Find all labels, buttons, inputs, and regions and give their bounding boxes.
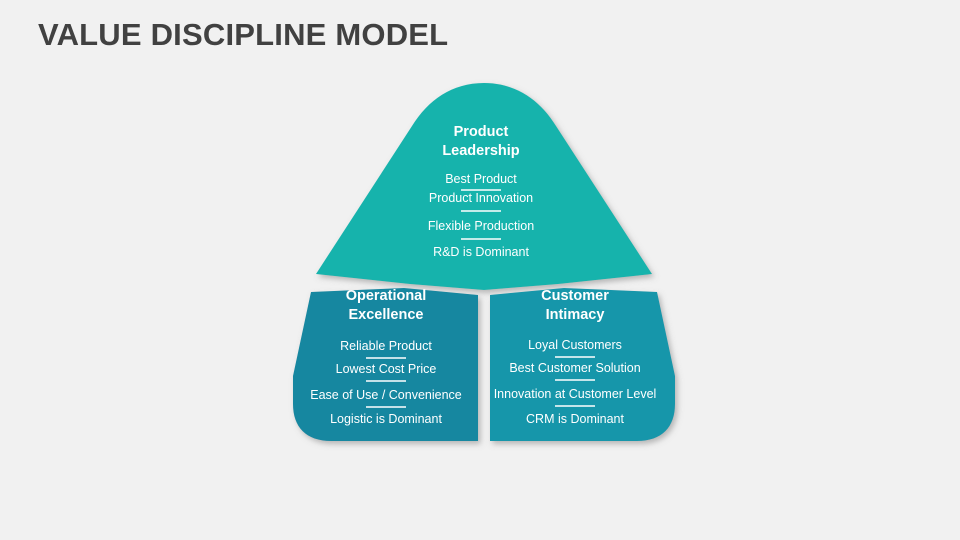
- slide-canvas: VALUE DISCIPLINE MODEL Product Leadershi…: [0, 0, 960, 540]
- segment-customer-intimacy[interactable]: Customer Intimacy Loyal Customers Best C…: [490, 288, 675, 441]
- segment-product-leadership-heading-line2: Leadership: [442, 143, 519, 159]
- segment-operational-excellence-item-3: Logistic is Dominant: [330, 412, 442, 426]
- segment-operational-excellence-heading-line2: Excellence: [349, 307, 424, 323]
- value-discipline-diagram: Product Leadership Best Product Product …: [0, 0, 960, 540]
- segment-product-leadership-item-2: Flexible Production: [428, 219, 534, 233]
- segment-operational-excellence-heading-line1: Operational: [346, 288, 427, 304]
- segment-operational-excellence[interactable]: Operational Excellence Reliable Product …: [293, 288, 478, 441]
- segment-customer-intimacy-heading-line2: Intimacy: [546, 307, 605, 323]
- segment-customer-intimacy-item-3: CRM is Dominant: [526, 412, 624, 426]
- segment-product-leadership-item-1: Product Innovation: [429, 191, 533, 205]
- segment-operational-excellence-item-2: Ease of Use / Convenience: [310, 388, 462, 402]
- segment-operational-excellence-item-0: Reliable Product: [340, 339, 432, 353]
- segment-operational-excellence-item-1: Lowest Cost Price: [336, 362, 437, 376]
- segment-customer-intimacy-item-2: Innovation at Customer Level: [494, 387, 657, 401]
- segment-customer-intimacy-heading-line1: Customer: [541, 288, 609, 304]
- segment-customer-intimacy-item-0: Loyal Customers: [528, 338, 622, 352]
- segment-product-leadership-heading-line1: Product: [454, 124, 509, 140]
- segment-customer-intimacy-item-1: Best Customer Solution: [509, 361, 640, 375]
- segment-product-leadership-item-3: R&D is Dominant: [433, 245, 529, 259]
- segment-product-leadership[interactable]: Product Leadership Best Product Product …: [316, 83, 652, 290]
- segment-product-leadership-item-0: Best Product: [445, 172, 517, 186]
